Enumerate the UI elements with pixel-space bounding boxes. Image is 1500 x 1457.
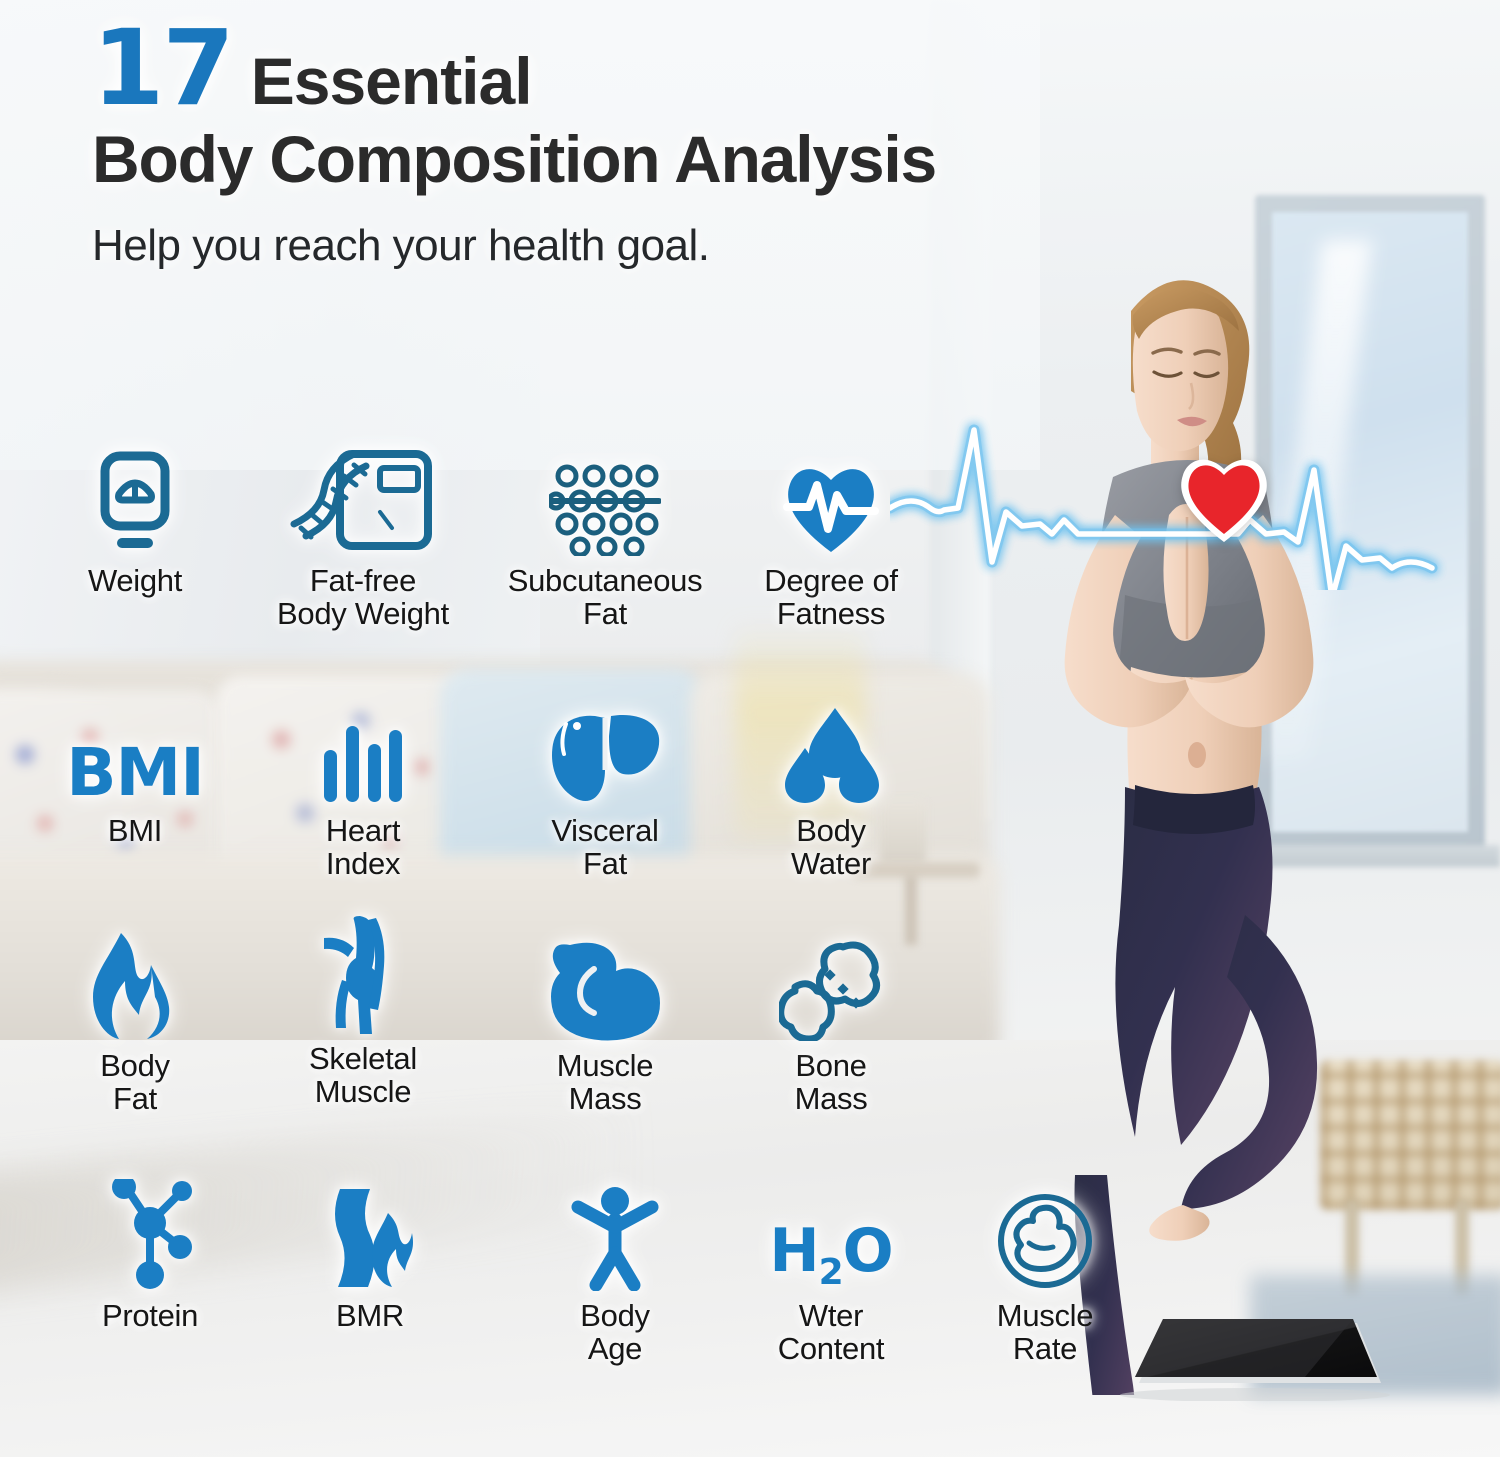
- heart-icon: [1175, 450, 1273, 546]
- metric-degree-of-fatness[interactable]: Degree of Fatness: [726, 440, 936, 631]
- person-arms-up-icon: [510, 1175, 720, 1291]
- metric-weight[interactable]: Weight: [30, 440, 240, 597]
- h2o-text-icon: H2O: [726, 1175, 936, 1291]
- metric-body-water[interactable]: Body Water: [726, 690, 936, 881]
- metric-bmr[interactable]: BMR: [265, 1175, 475, 1332]
- metric-label: BMR: [265, 1299, 475, 1332]
- metric-label: Protein: [45, 1299, 255, 1332]
- flame-icon: [30, 925, 240, 1041]
- metric-body-age[interactable]: Body Age: [510, 1175, 720, 1366]
- metric-visceral-fat[interactable]: Visceral Fat: [500, 690, 710, 881]
- biceps-icon: [500, 925, 710, 1041]
- metric-label: Weight: [30, 564, 240, 597]
- scale-icon: [30, 440, 240, 556]
- heart-pulse-icon: [726, 440, 936, 556]
- metric-label: Bone Mass: [726, 1049, 936, 1116]
- metric-heart-index[interactable]: Heart Index: [258, 690, 468, 881]
- metric-bmi[interactable]: BMI BMI: [30, 690, 240, 847]
- metric-label: Fat-free Body Weight: [258, 564, 468, 631]
- torso-flame-icon: [265, 1175, 475, 1291]
- metric-label: Visceral Fat: [500, 814, 710, 881]
- metric-muscle-mass[interactable]: Muscle Mass: [500, 925, 710, 1116]
- bone-fragments-icon: [726, 925, 936, 1041]
- metric-label: Muscle Rate: [940, 1299, 1150, 1366]
- metric-label: Skeletal Muscle: [258, 1042, 468, 1109]
- metric-skeletal-muscle[interactable]: Skeletal Muscle: [258, 918, 468, 1109]
- metric-subcutaneous-fat[interactable]: Subcutaneous Fat: [500, 440, 710, 631]
- dna-scale-icon: [258, 440, 468, 556]
- metric-label: Body Fat: [30, 1049, 240, 1116]
- metric-water-content[interactable]: H2O Wter Content: [726, 1175, 936, 1366]
- knee-joint-icon: [258, 918, 468, 1034]
- metric-label: Subcutaneous Fat: [500, 564, 710, 631]
- metric-label: Body Age: [510, 1299, 720, 1366]
- infographic-canvas: Weight Fat-free Body W: [0, 0, 1500, 1457]
- metric-protein[interactable]: Protein: [45, 1175, 255, 1332]
- metric-bone-mass[interactable]: Bone Mass: [726, 925, 936, 1116]
- metric-label: Heart Index: [258, 814, 468, 881]
- molecule-icon: [45, 1175, 255, 1291]
- metrics-grid: Weight Fat-free Body W: [0, 0, 1500, 1457]
- metric-label: Muscle Mass: [500, 1049, 710, 1116]
- metric-fat-free-weight[interactable]: Fat-free Body Weight: [258, 440, 468, 631]
- metric-label: Degree of Fatness: [726, 564, 936, 631]
- metric-label: BMI: [30, 814, 240, 847]
- biceps-circle-icon: [940, 1175, 1150, 1291]
- fat-cells-icon: [500, 440, 710, 556]
- bmi-text-icon: BMI: [30, 690, 240, 806]
- liver-icon: [500, 690, 710, 806]
- metric-label: Wter Content: [726, 1299, 936, 1366]
- water-drops-icon: [726, 690, 936, 806]
- metric-muscle-rate[interactable]: Muscle Rate: [940, 1175, 1150, 1366]
- metric-label: Body Water: [726, 814, 936, 881]
- metric-body-fat[interactable]: Body Fat: [30, 925, 240, 1116]
- bar-chart-icon: [258, 690, 468, 806]
